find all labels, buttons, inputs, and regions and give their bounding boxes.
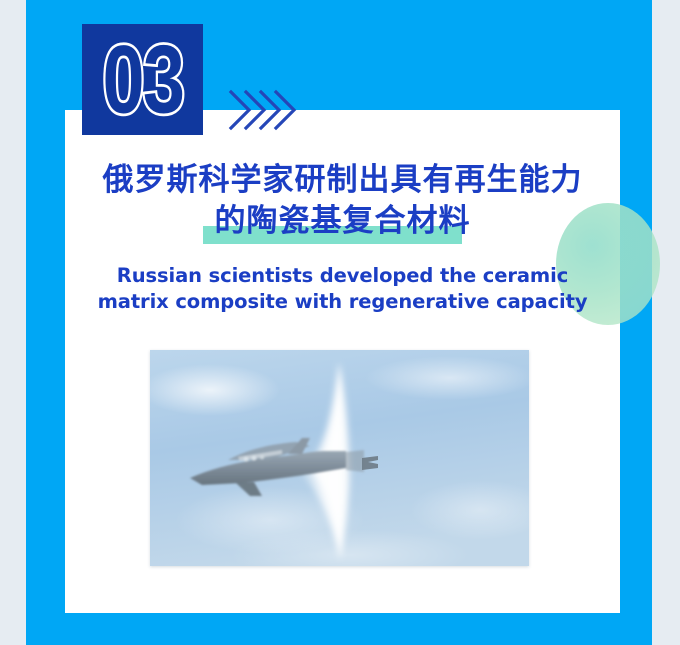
poster-root: 03 俄罗斯科学家研制出具有再生能力 的陶瓷基复合材料 Russian scie… xyxy=(0,0,680,645)
section-number-label: 03 xyxy=(102,31,183,127)
page-title-en: Russian scientists developed the ceramic… xyxy=(55,263,630,314)
page-title-cn: 俄罗斯科学家研制出具有再生能力 的陶瓷基复合材料 xyxy=(65,160,620,242)
chevron-right-icon xyxy=(228,88,298,132)
title-block: 俄罗斯科学家研制出具有再生能力 的陶瓷基复合材料 xyxy=(65,160,620,242)
hero-photo xyxy=(150,350,529,566)
section-number-badge: 03 xyxy=(82,24,203,135)
